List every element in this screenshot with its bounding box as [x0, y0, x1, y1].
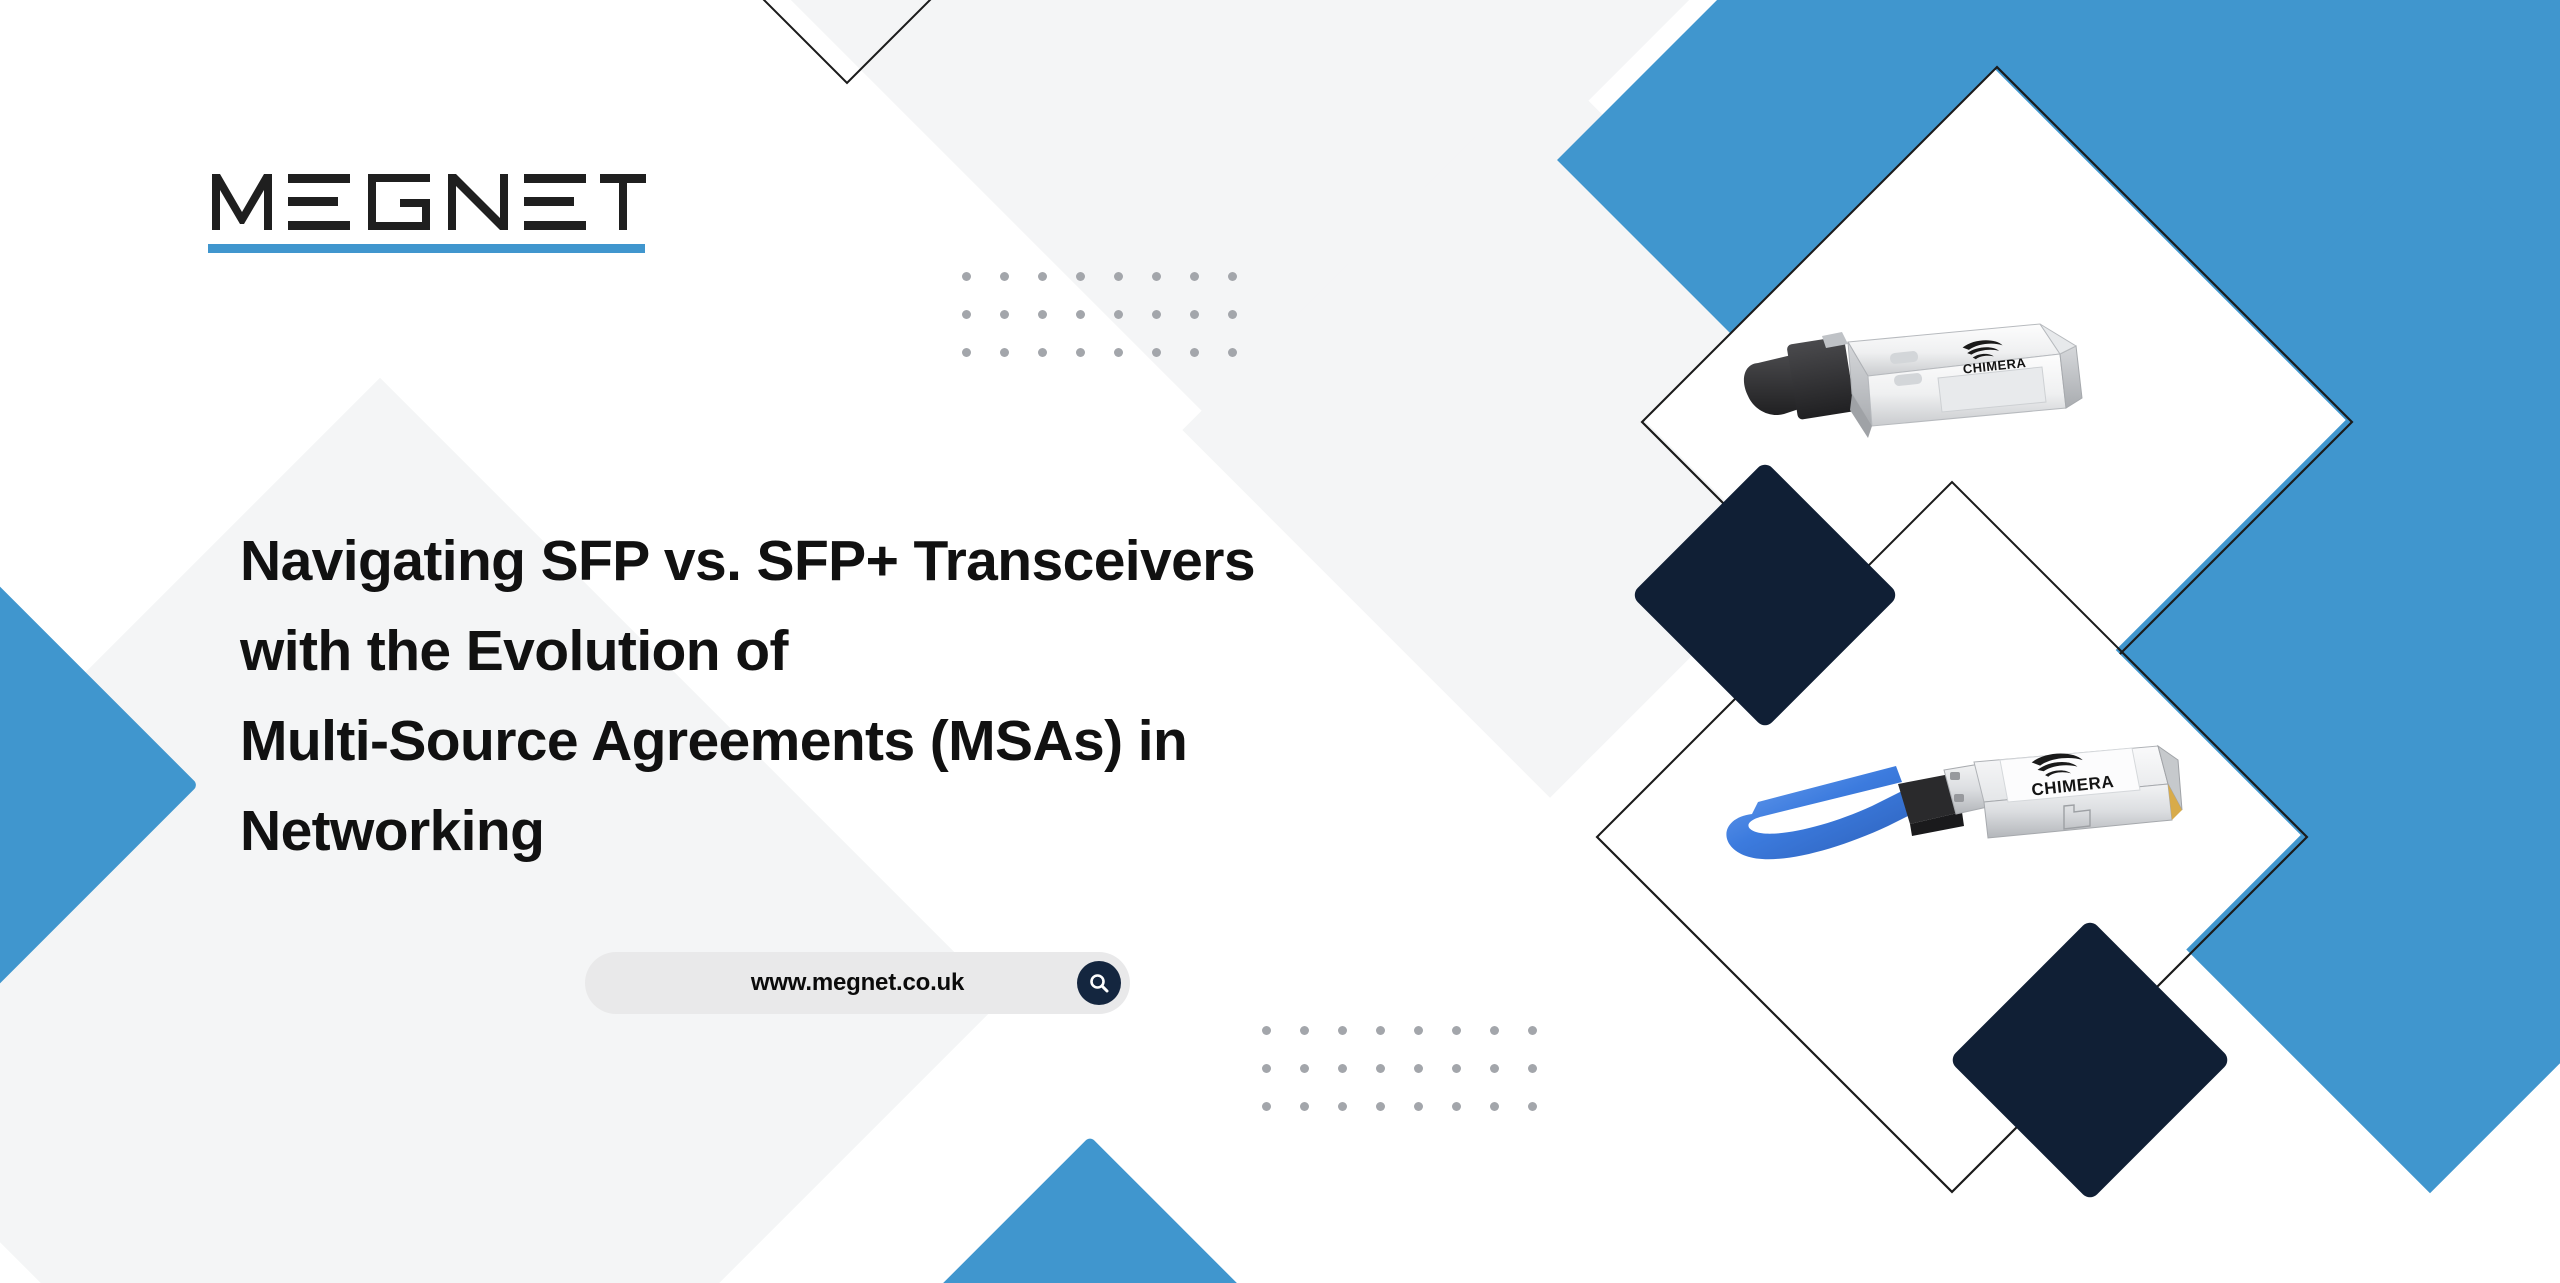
grid-dot	[962, 348, 971, 357]
dot-grid-bottom-right	[1262, 1026, 1566, 1140]
search-button[interactable]	[1077, 961, 1121, 1005]
grid-dot	[1338, 1026, 1347, 1035]
grid-dot	[1300, 1026, 1309, 1035]
logo-underline-bar	[208, 244, 645, 253]
headline-line-4: Networking	[240, 786, 1440, 876]
grid-dot	[1452, 1064, 1461, 1073]
grid-dot	[1300, 1102, 1309, 1111]
grid-dot	[1152, 272, 1161, 281]
grid-dot	[1376, 1026, 1385, 1035]
grid-dot	[1414, 1102, 1423, 1111]
grid-dot	[1414, 1064, 1423, 1073]
headline-line-1: Navigating SFP vs. SFP+ Transceivers	[240, 516, 1440, 606]
megnet-logo[interactable]	[208, 172, 648, 253]
grid-dot	[1528, 1026, 1537, 1035]
grid-dot	[1152, 310, 1161, 319]
grid-dot	[1076, 310, 1085, 319]
grid-dot	[1000, 348, 1009, 357]
grid-dot	[1228, 310, 1237, 319]
grid-dot	[1262, 1026, 1271, 1035]
grid-dot	[1376, 1064, 1385, 1073]
grid-dot	[1076, 272, 1085, 281]
grid-dot	[1190, 348, 1199, 357]
grid-dot	[1000, 310, 1009, 319]
grid-dot	[1114, 310, 1123, 319]
website-url-pill[interactable]: www.megnet.co.uk	[585, 952, 1130, 1014]
search-icon	[1087, 971, 1111, 995]
grid-dot	[1414, 1026, 1423, 1035]
megnet-wordmark	[208, 172, 648, 232]
grid-dot	[1076, 348, 1085, 357]
grid-dot	[1114, 272, 1123, 281]
qsfp-transceiver-image: CHIMERA	[1712, 740, 2192, 900]
grid-dot	[1490, 1102, 1499, 1111]
grid-dot	[1452, 1102, 1461, 1111]
grid-dot	[1300, 1064, 1309, 1073]
grid-dot	[1190, 272, 1199, 281]
qsfp-bail-handle	[1726, 766, 1920, 859]
grid-dot	[1228, 272, 1237, 281]
grid-dot	[1228, 348, 1237, 357]
website-url-text: www.megnet.co.uk	[751, 969, 964, 997]
grid-dot	[1490, 1064, 1499, 1073]
grid-dot	[1528, 1064, 1537, 1073]
grid-dot	[1490, 1026, 1499, 1035]
grid-dot	[1338, 1102, 1347, 1111]
page-title: Navigating SFP vs. SFP+ Transceivers wit…	[240, 516, 1440, 876]
grid-dot	[1114, 348, 1123, 357]
grid-dot	[1000, 272, 1009, 281]
banner-canvas: Navigating SFP vs. SFP+ Transceivers wit…	[0, 0, 2560, 1283]
sfp-transceiver-image: CHIMERA	[1730, 318, 2130, 488]
grid-dot	[1038, 348, 1047, 357]
grid-dot	[1262, 1064, 1271, 1073]
blue-diamond-bottom-center	[906, 1136, 1274, 1283]
grid-dot	[962, 310, 971, 319]
grid-dot	[1152, 348, 1161, 357]
headline-line-2: with the Evolution of	[240, 606, 1440, 696]
grid-dot	[1262, 1102, 1271, 1111]
grid-dot	[1452, 1026, 1461, 1035]
grid-dot	[1338, 1064, 1347, 1073]
grid-dot	[962, 272, 971, 281]
dot-grid-top-right	[962, 272, 1266, 386]
grid-dot	[1376, 1102, 1385, 1111]
headline-line-3: Multi-Source Agreements (MSAs) in	[240, 696, 1440, 786]
grid-dot	[1038, 272, 1047, 281]
grid-dot	[1528, 1102, 1537, 1111]
grid-dot	[1038, 310, 1047, 319]
grid-dot	[1190, 310, 1199, 319]
